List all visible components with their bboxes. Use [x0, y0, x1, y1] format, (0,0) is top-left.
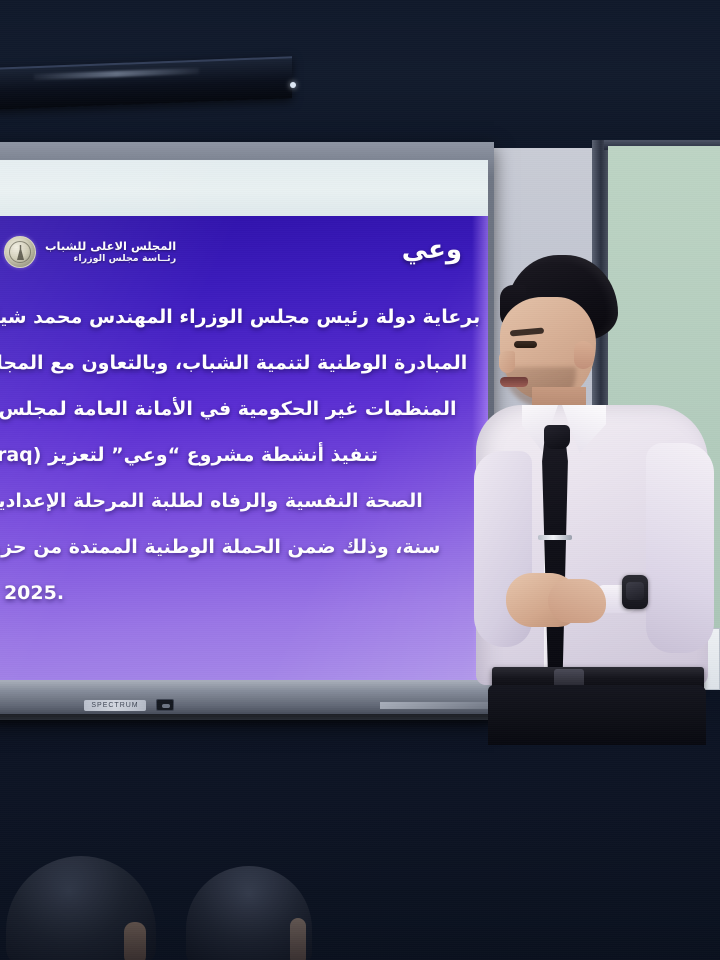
slide-body: المجلس الاعلى للشباب رئــاسة مجلس الوزرا… — [0, 216, 488, 680]
presenter-right-arm — [646, 443, 714, 653]
device-indicator-light — [290, 82, 296, 88]
slide-paragraph: برعاية دولة رئيس مجلس الوزراء المهندس مح… — [0, 294, 488, 616]
slide-line: المنظمات غير الحكومية في الأمانة العامة … — [0, 386, 488, 432]
presenter-trousers — [488, 685, 706, 745]
device-highlight — [34, 68, 199, 80]
presenter-eye — [514, 341, 537, 348]
slide-line: برعاية دولة رئيس مجلس الوزراء المهندس مح… — [0, 294, 488, 340]
wai-brand-logo: وعي — [402, 235, 462, 265]
organization-text: المجلس الاعلى للشباب رئــاسة مجلس الوزرا… — [45, 240, 176, 265]
slide-line: سنة، وذلك ضمن الحملة الوطنية الممتدة من … — [0, 524, 488, 570]
presenter-ear — [574, 341, 594, 369]
presenter-mouth — [500, 377, 528, 387]
slide-top-margin — [0, 160, 488, 216]
organization-name: المجلس الاعلى للشباب — [45, 240, 176, 254]
organization-subtitle: رئــاسة مجلس الوزراء — [45, 253, 176, 264]
ir-sensor-icon — [156, 699, 174, 711]
slide-line: الصحة النفسية والرفاه لطلبة المرحلة الإع… — [0, 478, 488, 524]
presentation-photo: المجلس الاعلى للشباب رئــاسة مجلس الوزرا… — [0, 0, 720, 960]
slide-line: المبادرة الوطنية لتنمية الشباب، وبالتعاو… — [0, 340, 488, 386]
presenter-tie-clip — [538, 535, 572, 540]
slide-line: تنفيذ أنشطة مشروع “وعي” لتعزيز (MSA-Iraq… — [0, 432, 488, 478]
interactive-display-screen[interactable]: المجلس الاعلى للشباب رئــاسة مجلس الوزرا… — [0, 160, 488, 680]
presenter-nose — [499, 351, 515, 373]
presentation-slide: المجلس الاعلى للشباب رئــاسة مجلس الوزرا… — [0, 160, 488, 680]
iraq-state-emblem-icon — [4, 236, 36, 268]
presenter — [470, 255, 720, 725]
display-bottom-bezel — [0, 680, 494, 716]
display-shadow — [0, 714, 494, 728]
slide-header: المجلس الاعلى للشباب رئــاسة مجلس الوزرا… — [0, 226, 488, 278]
presenter-tie-knot — [544, 425, 570, 449]
presenter-hand-right — [548, 579, 606, 623]
organization-lockup: المجلس الاعلى للشباب رئــاسة مجلس الوزرا… — [4, 236, 176, 268]
display-brand-label: SPECTRUM — [84, 700, 146, 711]
wrist-watch-icon — [622, 575, 648, 609]
slide-line-year: 2025. — [0, 570, 488, 616]
